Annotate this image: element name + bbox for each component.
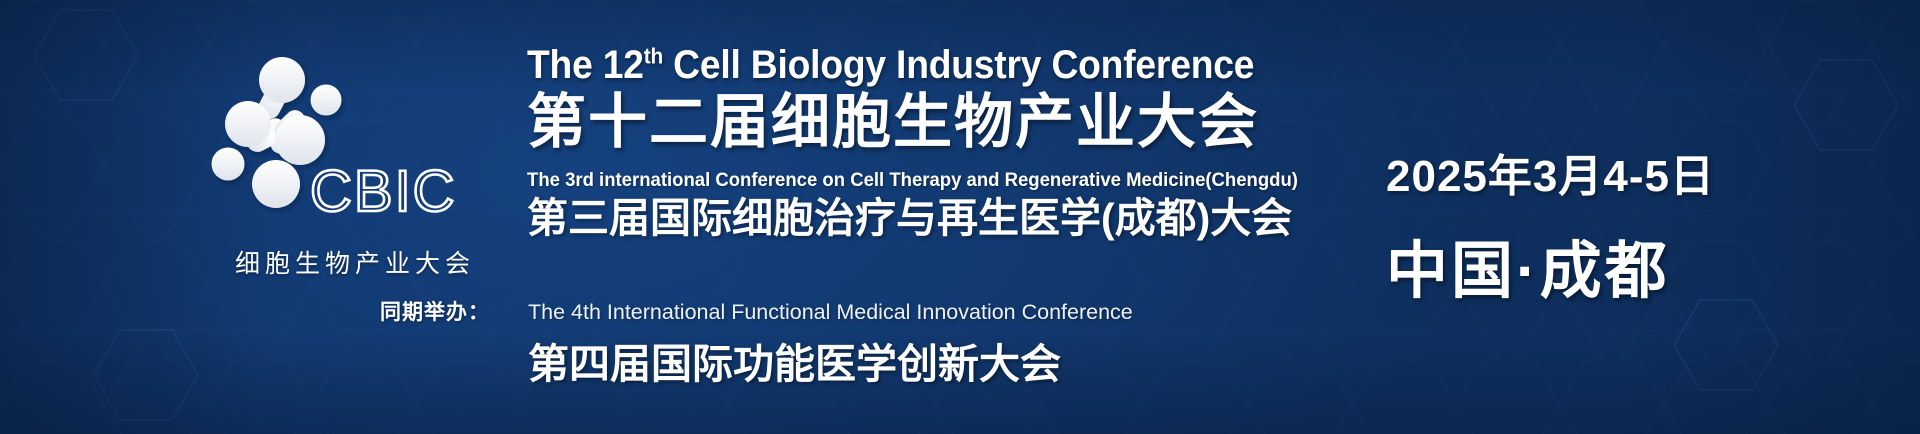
english-main-suffix: Cell Biology Industry Conference	[663, 43, 1254, 87]
conference-titles: The 12th Cell Biology Industry Conferenc…	[527, 44, 1347, 242]
concurrent-conference: 同期举办： The 4th International Functional M…	[380, 296, 1360, 390]
english-main-title: The 12th Cell Biology Industry Conferenc…	[527, 44, 1290, 87]
english-sub-title: The 3rd international Conference on Cell…	[527, 169, 1306, 192]
conference-banner: CBIC 细胞生物产业大会 The 12th Cell Biology Indu…	[0, 0, 1920, 434]
event-location: 中国·成都	[1386, 220, 1786, 310]
svg-text:CBIC: CBIC	[310, 164, 457, 224]
concurrent-english-title: The 4th International Functional Medical…	[528, 300, 1133, 325]
chinese-main-title: 第十二届细胞生物产业大会	[527, 89, 1347, 155]
cbic-logo: CBIC 细胞生物产业大会	[210, 52, 520, 282]
english-main-prefix: The 12	[527, 43, 644, 87]
event-details: 2025年3月4-5日 中国·成都	[1386, 140, 1786, 310]
ordinal-suffix: th	[644, 44, 663, 69]
concurrent-label: 同期举办：	[380, 296, 528, 326]
logo-chinese-name: 细胞生物产业大会	[210, 244, 500, 280]
cbic-wordmark: CBIC	[310, 164, 510, 226]
event-date: 2025年3月4-5日	[1386, 140, 1786, 204]
concurrent-english-row: 同期举办： The 4th International Functional M…	[380, 296, 1360, 326]
chinese-sub-title: 第三届国际细胞治疗与再生医学(成都)大会	[527, 195, 1347, 242]
concurrent-chinese-title: 第四届国际功能医学创新大会	[528, 330, 1360, 390]
